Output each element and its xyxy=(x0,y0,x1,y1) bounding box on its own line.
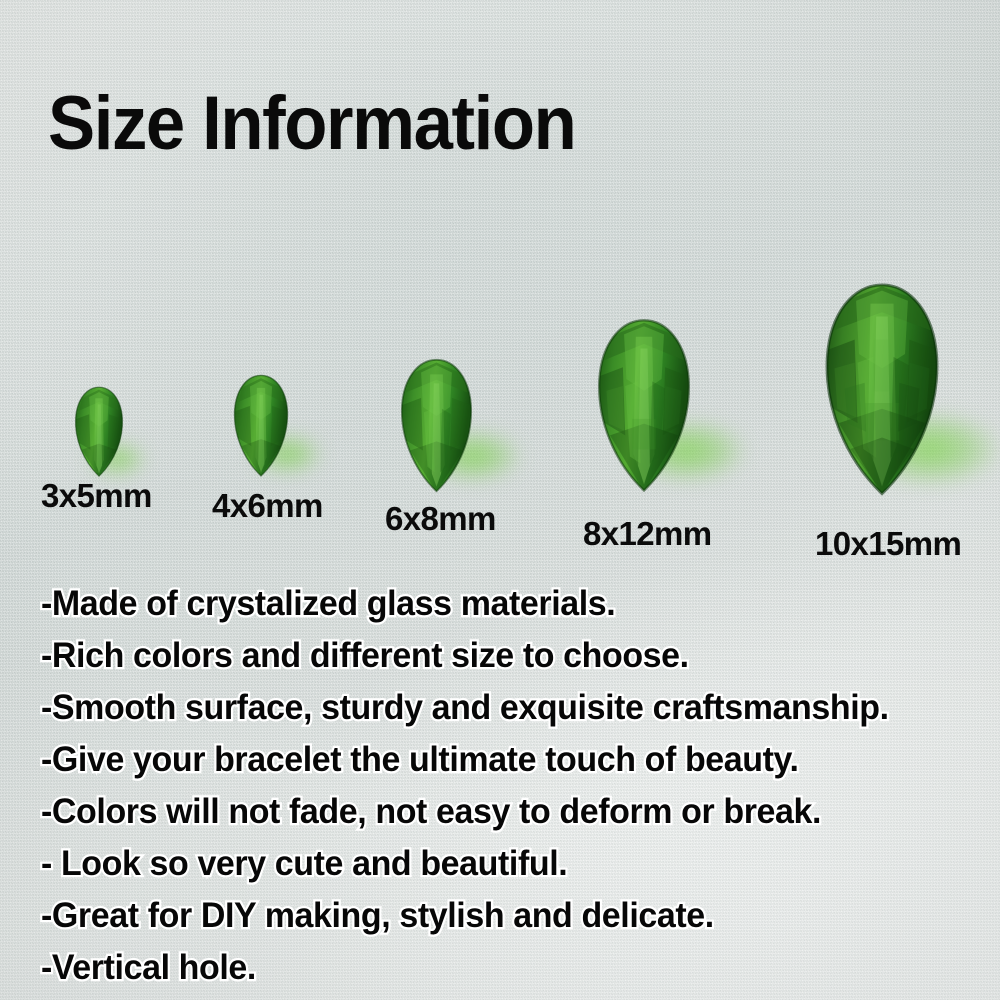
feature-item: -Great for DIY making, stylish and delic… xyxy=(41,890,963,942)
size-label-4x6mm: 4x6mm xyxy=(212,487,323,525)
feature-item: -Vertical hole. xyxy=(41,942,963,994)
bead-10x15mm xyxy=(806,282,958,498)
size-label-8x12mm: 8x12mm xyxy=(583,515,712,553)
feature-item: - Look so very cute and beautiful. xyxy=(41,838,963,890)
size-label-10x15mm: 10x15mm xyxy=(815,525,961,563)
bead-6x8mm xyxy=(389,358,484,494)
size-information-graphic: Size Information xyxy=(0,0,1000,1000)
feature-list: -Made of crystalized glass materials. -R… xyxy=(41,578,991,994)
bead-8x12mm xyxy=(583,318,705,494)
feature-item: -Give your bracelet the ultimate touch o… xyxy=(41,734,963,786)
feature-item: -Colors will not fade, not easy to defor… xyxy=(41,786,963,838)
bead-3x5mm xyxy=(68,386,130,478)
size-label-3x5mm: 3x5mm xyxy=(41,477,152,515)
size-label-6x8mm: 6x8mm xyxy=(385,500,496,538)
feature-item: -Smooth surface, sturdy and exquisite cr… xyxy=(41,682,963,734)
feature-item: -Made of crystalized glass materials. xyxy=(41,578,963,630)
bead-4x6mm xyxy=(225,374,297,478)
feature-item: -Rich colors and different size to choos… xyxy=(41,630,963,682)
